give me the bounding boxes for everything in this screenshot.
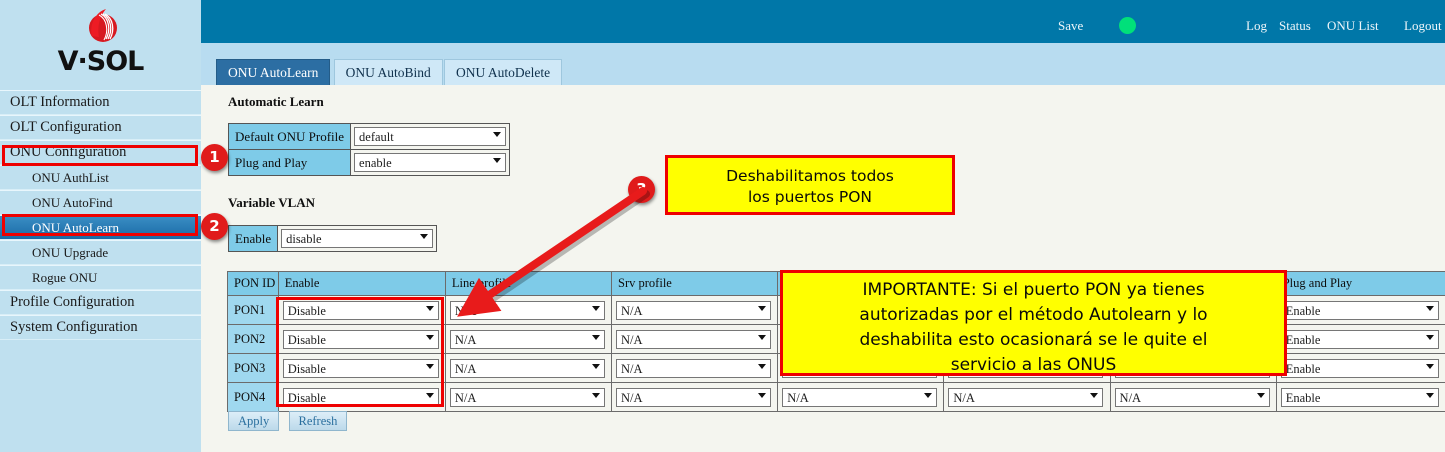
sidebar-item-onu-authlist[interactable]: ONU AuthList — [0, 165, 201, 190]
column-header-enable: Enable — [278, 272, 445, 296]
vlan-enable-label: Enable — [229, 226, 278, 252]
sidebar-item-olt-configuration[interactable]: OLT Configuration — [0, 115, 201, 140]
brand-logo[interactable]: V·SOL — [0, 0, 201, 90]
line-profile-select-pon4[interactable]: N/A — [450, 388, 605, 407]
enable-select-pon1[interactable]: Disable — [283, 301, 439, 320]
vsol-sphere-logo-icon — [86, 6, 120, 44]
line-profile-cell: N/A — [445, 383, 611, 412]
enable-cell: Disable — [278, 354, 445, 383]
sidebar: V·SOL OLT InformationOLT ConfigurationON… — [0, 0, 203, 452]
tab-onu-autolearn[interactable]: ONU AutoLearn — [216, 59, 330, 85]
line-profile-select-pon2[interactable]: N/A — [450, 330, 605, 349]
tab-onu-autodelete[interactable]: ONU AutoDelete — [444, 59, 562, 85]
srv-profile-cell: N/A — [612, 296, 778, 325]
plug-and-play-select-pon1[interactable]: Enable — [1281, 301, 1439, 320]
plug-and-play-cell: Enable — [1276, 383, 1445, 412]
note-line: Deshabilitamos todos — [668, 166, 952, 187]
sidebar-item-onu-autolearn[interactable]: ONU AutoLearn — [0, 215, 201, 240]
line-profile-select-pon3[interactable]: N/A — [450, 359, 605, 378]
plug-and-play-select[interactable]: enable — [354, 153, 506, 172]
table-row: PON4DisableN/AN/AN/AN/AN/AEnable — [228, 383, 1445, 412]
refresh-button[interactable]: Refresh — [289, 411, 348, 431]
plug-and-play-label: Plug and Play — [229, 150, 351, 176]
status-link[interactable]: Status — [1279, 18, 1311, 34]
sidebar-item-rogue-onu[interactable]: Rogue ONU — [0, 265, 201, 290]
form-row: Default ONU Profile default — [229, 124, 510, 150]
apply-button[interactable]: Apply — [228, 411, 279, 431]
enable-select-pon3[interactable]: Disable — [283, 359, 439, 378]
sidebar-item-onu-configuration[interactable]: ONU Configuration — [0, 140, 201, 165]
sidebar-item-onu-upgrade[interactable]: ONU Upgrade — [0, 240, 201, 265]
note-line: los puertos PON — [668, 187, 952, 208]
srv-profile-cell: N/A — [612, 383, 778, 412]
srv-profile-select-pon2[interactable]: N/A — [616, 330, 771, 349]
default-onu-profile-label: Default ONU Profile — [229, 124, 351, 150]
pon-id-cell: PON1 — [228, 296, 279, 325]
sidebar-item-onu-autofind[interactable]: ONU AutoFind — [0, 190, 201, 215]
plug-and-play-cell: Enable — [1276, 354, 1445, 383]
sidebar-item-profile-configuration[interactable]: Profile Configuration — [0, 290, 201, 315]
alarm-profile-select-pon4[interactable]: N/A — [1115, 388, 1270, 407]
pon-id-cell: PON4 — [228, 383, 279, 412]
srv-profile-cell: N/A — [612, 354, 778, 383]
enable-cell: Disable — [278, 383, 445, 412]
enable-select-pon2[interactable]: Disable — [283, 330, 439, 349]
brand-name: V·SOL — [0, 46, 201, 77]
plug-and-play-select-pon2[interactable]: Enable — [1281, 330, 1439, 349]
column-header-srv-profile: Srv profile — [612, 272, 778, 296]
automatic-learn-form: Default ONU Profile default Plug and Pla… — [228, 123, 510, 176]
dba-profile-select-pon4[interactable]: N/A — [948, 388, 1103, 407]
alarm-profile-cell: N/A — [1110, 383, 1276, 412]
pon-id-cell: PON2 — [228, 325, 279, 354]
auth-mode-cell: N/A — [778, 383, 944, 412]
srv-profile-select-pon3[interactable]: N/A — [616, 359, 771, 378]
sidebar-item-olt-information[interactable]: OLT Information — [0, 90, 201, 115]
note-line: autorizadas por el método Autolearn y lo — [783, 303, 1284, 328]
tab-strip: ONU AutoLearnONU AutoBindONU AutoDelete — [201, 43, 1445, 85]
step-badge-3: 3 — [628, 176, 655, 203]
note-line: deshabilita esto ocasionará se le quite … — [783, 328, 1284, 353]
variable-vlan-title: Variable VLAN — [228, 195, 315, 211]
line-profile-cell: N/A — [445, 325, 611, 354]
tab-onu-autobind[interactable]: ONU AutoBind — [334, 59, 443, 85]
note-line: servicio a las ONUS — [783, 353, 1284, 378]
annotation-note-disable-ports: Deshabilitamos todos los puertos PON — [665, 155, 955, 215]
pon-id-cell: PON3 — [228, 354, 279, 383]
plug-and-play-cell: Enable — [1276, 296, 1445, 325]
logout-link[interactable]: Logout — [1404, 18, 1442, 34]
enable-cell: Disable — [278, 325, 445, 354]
variable-vlan-form: Enable disable — [228, 225, 437, 252]
annotation-note-important: IMPORTANTE: Si el puerto PON ya tienes a… — [780, 270, 1287, 376]
plug-and-play-cell: Enable — [1276, 325, 1445, 354]
action-buttons: Apply Refresh — [228, 411, 353, 431]
form-row: Plug and Play enable — [229, 150, 510, 176]
enable-select-pon4[interactable]: Disable — [283, 388, 439, 407]
column-header-line-profile: Line profile — [445, 272, 611, 296]
onu-list-link[interactable]: ONU List — [1327, 18, 1379, 34]
step-badge-1: 1 — [201, 144, 228, 171]
top-header: Save Log Status ONU List Logout — [201, 0, 1445, 43]
auth-mode-select-pon4[interactable]: N/A — [782, 388, 937, 407]
line-profile-select-pon1[interactable]: N/A — [450, 301, 605, 320]
main-content: Automatic Learn Default ONU Profile defa… — [201, 85, 1445, 452]
enable-cell: Disable — [278, 296, 445, 325]
srv-profile-select-pon1[interactable]: N/A — [616, 301, 771, 320]
plug-and-play-cell: enable — [351, 150, 510, 176]
vlan-enable-cell: disable — [278, 226, 437, 252]
save-link[interactable]: Save — [1058, 18, 1083, 34]
plug-and-play-select-pon3[interactable]: Enable — [1281, 359, 1439, 378]
dba-profile-cell: N/A — [944, 383, 1110, 412]
step-badge-2: 2 — [201, 213, 228, 240]
srv-profile-cell: N/A — [612, 325, 778, 354]
default-onu-profile-select[interactable]: default — [354, 127, 506, 146]
line-profile-cell: N/A — [445, 296, 611, 325]
column-header-pon-id: PON ID — [228, 272, 279, 296]
automatic-learn-title: Automatic Learn — [228, 94, 324, 110]
srv-profile-select-pon4[interactable]: N/A — [616, 388, 771, 407]
sidebar-item-system-configuration[interactable]: System Configuration — [0, 315, 201, 340]
vlan-enable-select[interactable]: disable — [281, 229, 433, 248]
default-onu-profile-cell: default — [351, 124, 510, 150]
plug-and-play-select-pon4[interactable]: Enable — [1281, 388, 1439, 407]
log-link[interactable]: Log — [1246, 18, 1267, 34]
form-row: Enable disable — [229, 226, 437, 252]
note-line: IMPORTANTE: Si el puerto PON ya tienes — [783, 278, 1284, 303]
line-profile-cell: N/A — [445, 354, 611, 383]
column-header-plug-and-play: Plug and Play — [1276, 272, 1445, 296]
sidebar-nav: OLT InformationOLT ConfigurationONU Conf… — [0, 90, 201, 340]
status-indicator-dot — [1119, 17, 1136, 34]
